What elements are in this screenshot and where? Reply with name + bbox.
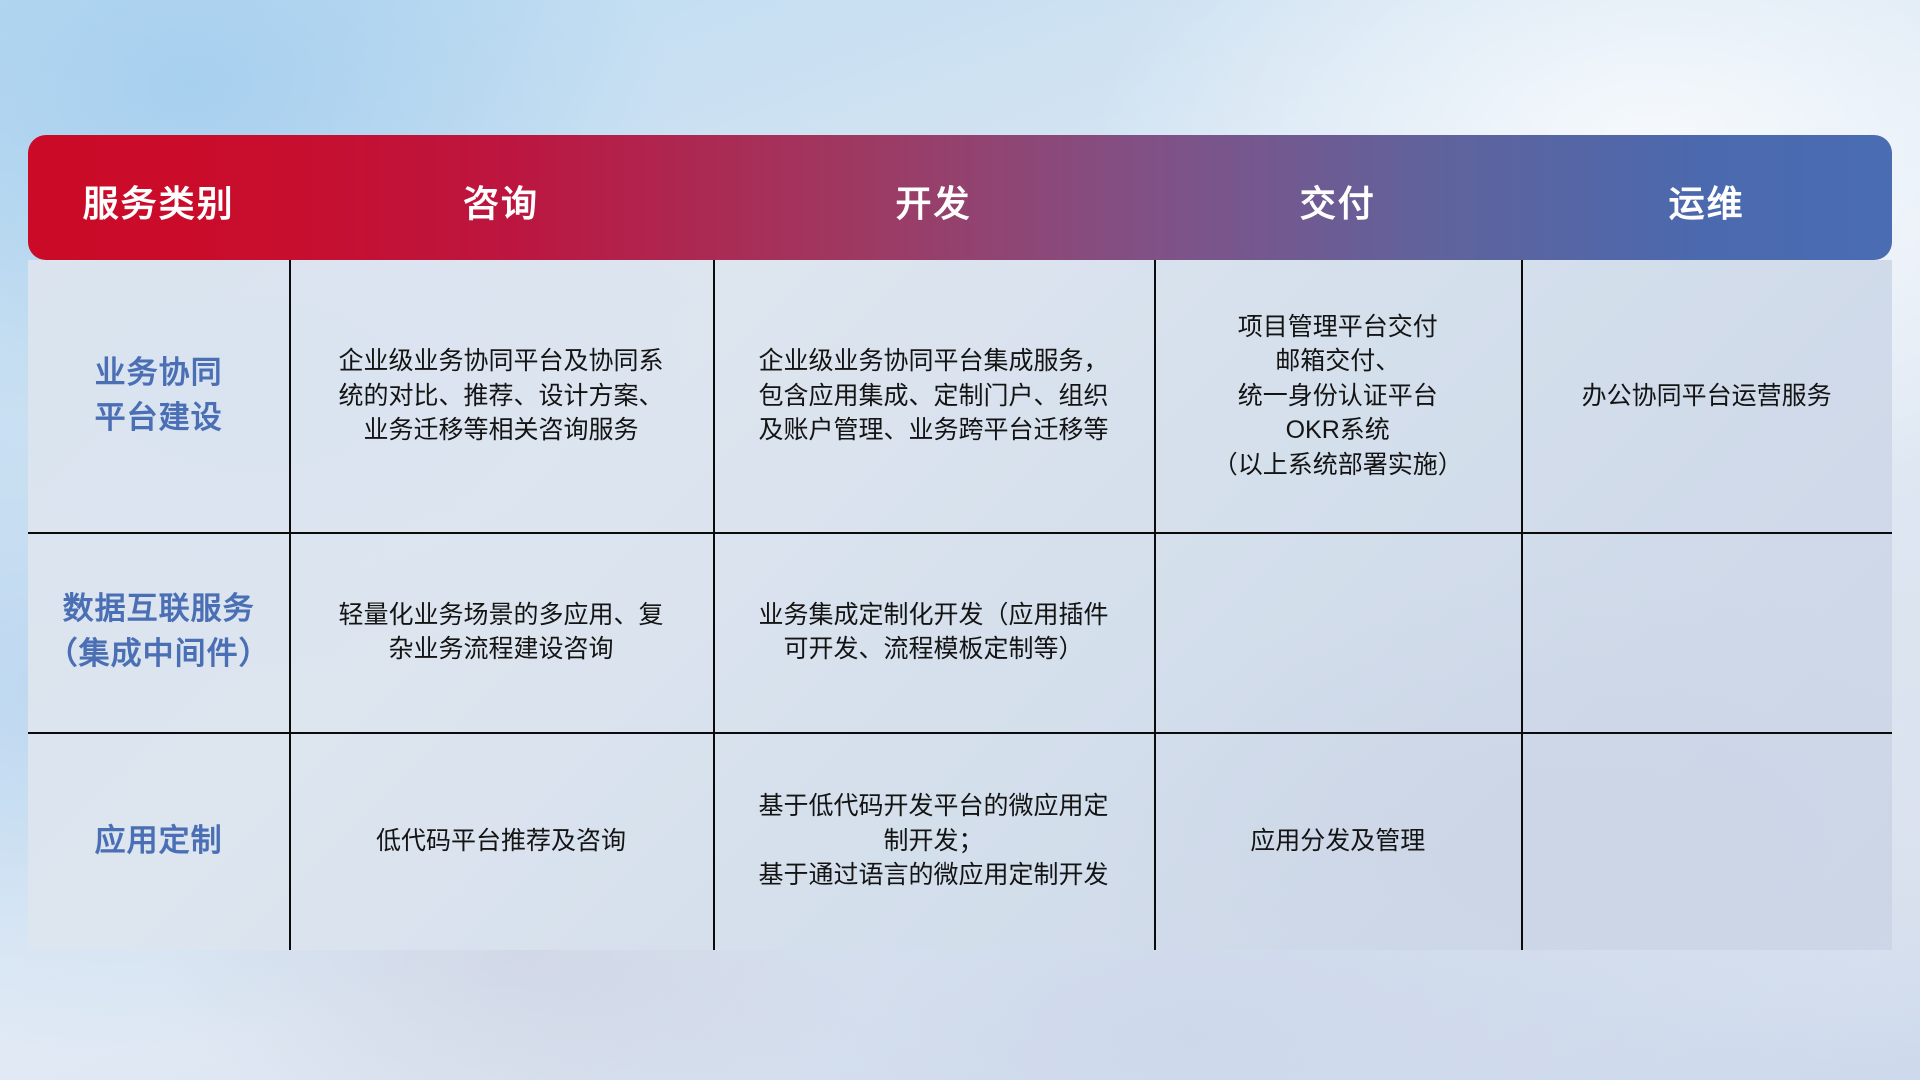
cell-operations [1521, 732, 1892, 950]
table-body: 业务协同 平台建设 企业级业务协同平台及协同系 统的对比、推荐、设计方案、 业务… [28, 260, 1892, 950]
cell-consulting: 低代码平台推荐及咨询 [289, 732, 713, 950]
cell-consulting: 企业级业务协同平台及协同系 统的对比、推荐、设计方案、 业务迁移等相关咨询服务 [289, 260, 713, 532]
column-header-delivery: 交付 [1154, 135, 1521, 260]
column-header-operations-label: 运维 [1669, 175, 1745, 227]
cell-consulting: 轻量化业务场景的多应用、复 杂业务流程建设咨询 [289, 532, 713, 732]
row-label-cell: 应用定制 [28, 732, 289, 950]
column-header-consulting-label: 咨询 [463, 175, 539, 227]
column-header-category-label: 服务类别 [83, 175, 235, 227]
row-label-cell: 数据互联服务 （集成中间件） [28, 532, 289, 732]
table-row: 应用定制 低代码平台推荐及咨询 基于低代码开发平台的微应用定 制开发； 基于通过… [28, 732, 1892, 950]
cell-delivery: 应用分发及管理 [1154, 732, 1521, 950]
cell-operations [1521, 532, 1892, 732]
column-header-delivery-label: 交付 [1300, 175, 1376, 227]
column-header-operations: 运维 [1521, 135, 1892, 260]
column-header-development: 开发 [713, 135, 1154, 260]
service-category-table: 服务类别 咨询 开发 交付 运维 业务协同 平台建设 企业级业务协同平台及协同系… [28, 135, 1892, 950]
cell-delivery: 项目管理平台交付 邮箱交付、 统一身份认证平台 OKR系统 （以上系统部署实施） [1154, 260, 1521, 532]
cell-development: 业务集成定制化开发（应用插件 可开发、流程模板定制等） [713, 532, 1154, 732]
table-header-row: 服务类别 咨询 开发 交付 运维 [28, 135, 1892, 260]
column-header-consulting: 咨询 [289, 135, 713, 260]
cell-delivery [1154, 532, 1521, 732]
table-row: 业务协同 平台建设 企业级业务协同平台及协同系 统的对比、推荐、设计方案、 业务… [28, 260, 1892, 532]
column-header-development-label: 开发 [895, 175, 971, 227]
cell-development: 企业级业务协同平台集成服务， 包含应用集成、定制门户、组织 及账户管理、业务跨平… [713, 260, 1154, 532]
cell-operations: 办公协同平台运营服务 [1521, 260, 1892, 532]
table-row: 数据互联服务 （集成中间件） 轻量化业务场景的多应用、复 杂业务流程建设咨询 业… [28, 532, 1892, 732]
cell-development: 基于低代码开发平台的微应用定 制开发； 基于通过语言的微应用定制开发 [713, 732, 1154, 950]
column-header-category: 服务类别 [28, 135, 289, 260]
row-label-cell: 业务协同 平台建设 [28, 260, 289, 532]
